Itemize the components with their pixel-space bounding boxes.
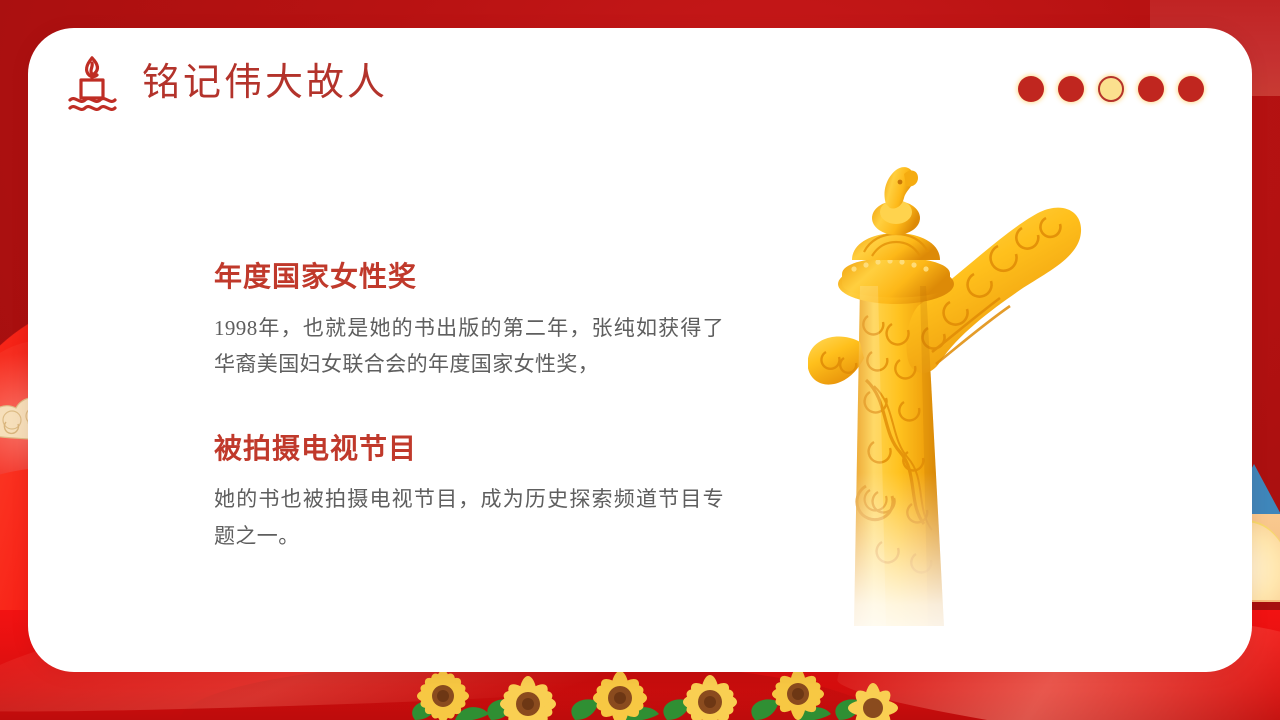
candle-icon <box>64 54 120 112</box>
content-section-1: 年度国家女性奖 1998年，也就是她的书出版的第二年，张纯如获得了华裔美国妇女联… <box>214 260 724 382</box>
huabiao-column-image <box>808 156 1108 666</box>
slide-header: 铭记伟大故人 <box>28 28 1252 138</box>
slide-root: 铭记伟大故人 年度国家女性奖 1998年，也就是她的书出版的第二年，张纯如获得了… <box>0 0 1280 720</box>
progress-dot-4[interactable] <box>1138 76 1164 102</box>
progress-dot-3-active[interactable] <box>1098 76 1124 102</box>
section-2-body: 她的书也被拍摄电视节目，成为历史探索频道节目专题之一。 <box>214 481 724 553</box>
section-1-title: 年度国家女性奖 <box>214 260 724 294</box>
slide-card: 铭记伟大故人 年度国家女性奖 1998年，也就是她的书出版的第二年，张纯如获得了… <box>28 28 1252 672</box>
content-section-2: 被拍摄电视节目 她的书也被拍摄电视节目，成为历史探索频道节目专题之一。 <box>214 432 724 554</box>
section-2-title: 被拍摄电视节目 <box>214 432 724 466</box>
progress-dot-5[interactable] <box>1178 76 1204 102</box>
section-1-body: 1998年，也就是她的书出版的第二年，张纯如获得了华裔美国妇女联合会的年度国家女… <box>214 310 724 382</box>
page-title: 铭记伟大故人 <box>142 64 388 102</box>
title-group: 铭记伟大故人 <box>64 54 388 112</box>
progress-dot-1[interactable] <box>1018 76 1044 102</box>
huabiao-column-illustration <box>808 156 1108 666</box>
progress-dot-2[interactable] <box>1058 76 1084 102</box>
slide-progress-dots[interactable] <box>1018 76 1204 102</box>
content-body: 年度国家女性奖 1998年，也就是她的书出版的第二年，张纯如获得了华裔美国妇女联… <box>214 260 724 554</box>
